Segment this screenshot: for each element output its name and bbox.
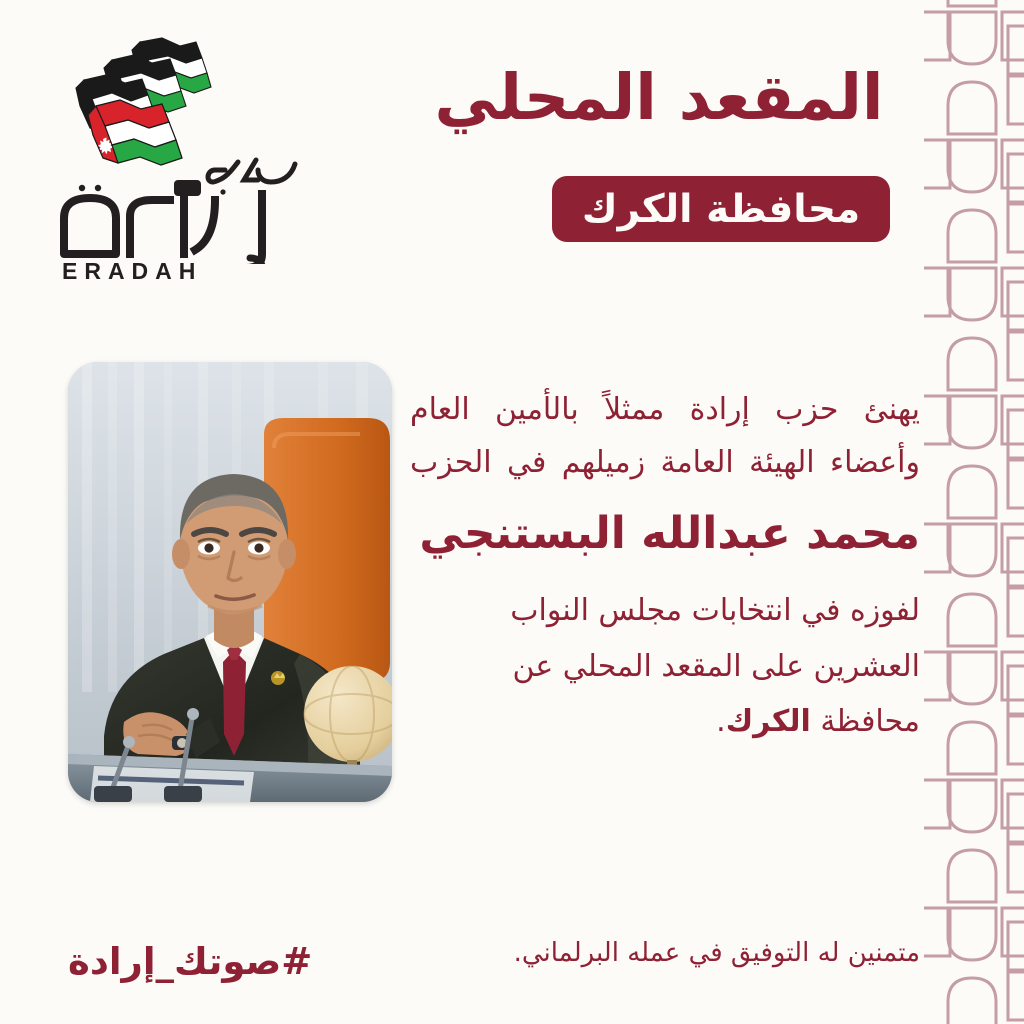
reason-paragraph: لفوزه في انتخابات مجلس النواب العشرين عل… bbox=[410, 583, 920, 750]
eradah-logo: ERADAH bbox=[52, 36, 302, 286]
campaign-hashtag: #صوتك_إرادة bbox=[68, 940, 312, 983]
reason-prefix-text: لفوزه في انتخابات مجلس النواب العشرين عل… bbox=[510, 593, 920, 739]
reason-emphasis-text: الكرك bbox=[726, 704, 811, 739]
poster-canvas: ERADAH المقعد المحلي محافظة الكرك bbox=[0, 0, 1024, 1024]
governorate-badge: محافظة الكرك bbox=[552, 176, 890, 242]
logo-wordmark bbox=[52, 154, 302, 264]
reason-suffix-text: . bbox=[716, 704, 726, 739]
congratulation-intro: يهنئ حزب إرادة ممثلاً بالأمين العام وأعض… bbox=[410, 384, 920, 489]
honoree-portrait-photo bbox=[68, 362, 392, 802]
closing-wish: متمنين له التوفيق في عمله البرلماني. bbox=[410, 938, 920, 968]
page-title: المقعد المحلي bbox=[399, 62, 919, 134]
logo-latin-text: ERADAH bbox=[62, 258, 202, 285]
honoree-name: محمد عبدالله البستنجي bbox=[410, 501, 920, 567]
announcement-text-block: يهنئ حزب إرادة ممثلاً بالأمين العام وأعض… bbox=[410, 384, 920, 750]
decorative-arch-pattern bbox=[924, 0, 1024, 1024]
